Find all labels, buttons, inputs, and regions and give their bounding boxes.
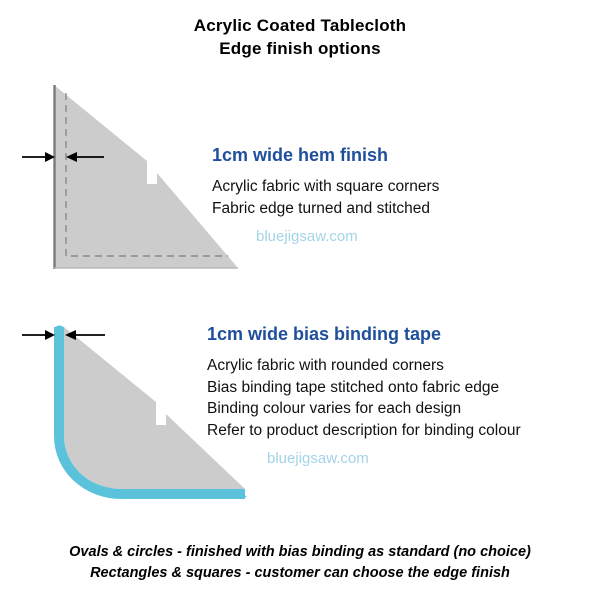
watermark-hem: bluejigsaw.com: [212, 227, 439, 247]
footer-line-1: Ovals & circles - finished with bias bin…: [0, 542, 600, 563]
hem-width-arrows: [22, 152, 104, 162]
section-hem-line-1: Acrylic fabric with square corners: [212, 176, 439, 198]
watermark-bias: bluejigsaw.com: [207, 449, 521, 469]
section-bias-line-4: Refer to product description for binding…: [207, 420, 521, 442]
title-line-2: Edge finish options: [0, 37, 600, 60]
section-bias-heading: 1cm wide bias binding tape: [207, 323, 521, 345]
bias-binding-top-cap: [54, 325, 64, 334]
section-bias-line-1: Acrylic fabric with rounded corners: [207, 355, 521, 377]
section-hem-heading: 1cm wide hem finish: [212, 144, 439, 166]
binding-width-arrows: [22, 330, 105, 340]
infographic-page: Acrylic Coated Tablecloth Edge finish op…: [0, 0, 600, 600]
section-bias-line-2: Bias binding tape stitched onto fabric e…: [207, 377, 521, 399]
square-corner-hem-diagram: [22, 85, 238, 269]
section-hem-line-2: Fabric edge turned and stitched: [212, 198, 439, 220]
fabric-shape-square-corner: [54, 85, 156, 183]
section-bias-line-3: Binding colour varies for each design: [207, 398, 521, 420]
stitch-dashed-line: [66, 93, 228, 256]
title-line-1: Acrylic Coated Tablecloth: [0, 14, 600, 37]
page-title: Acrylic Coated Tablecloth Edge finish op…: [0, 14, 600, 60]
footer-note: Ovals & circles - finished with bias bin…: [0, 542, 600, 584]
fabric-fill-square-corner: [54, 85, 238, 268]
section-bias-lines: Acrylic fabric with rounded corners Bias…: [207, 355, 521, 441]
footer-line-2: Rectangles & squares - customer can choo…: [0, 563, 600, 584]
section-hem-lines: Acrylic fabric with square corners Fabri…: [212, 176, 439, 219]
diagram-layer: [0, 0, 600, 600]
section-bias-binding: 1cm wide bias binding tape Acrylic fabri…: [207, 323, 521, 469]
bias-binding-right-tip: [236, 489, 247, 499]
section-hem-finish: 1cm wide hem finish Acrylic fabric with …: [212, 144, 439, 247]
